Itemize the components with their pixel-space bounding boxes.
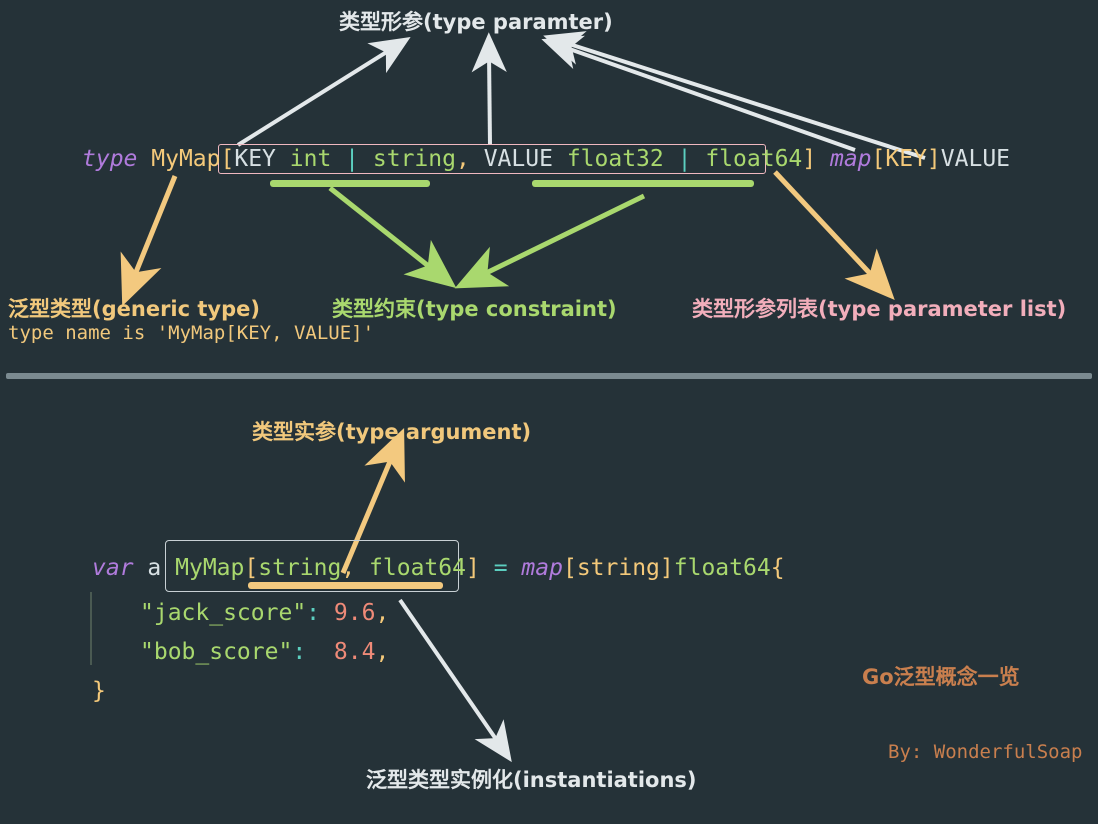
- arrow-mapkey-to-type-parameter: [561, 46, 855, 150]
- variable-name: a: [147, 555, 161, 581]
- map-entry-key-jack: "jack_score": [140, 600, 306, 626]
- label-type-parameter: 类型形参(type paramter): [339, 6, 613, 36]
- colon-1: :: [306, 600, 320, 626]
- signature-author: By: WonderfulSoap: [888, 739, 1082, 767]
- type-arg-float64: float64: [369, 555, 466, 581]
- comma-jack: ,: [375, 600, 389, 626]
- label-type-constraint: 类型约束(type constraint): [332, 293, 617, 323]
- generic-type-name: MyMap: [151, 146, 220, 172]
- diagram-canvas: 类型形参(type paramter) type MyMap[KEY int |…: [0, 0, 1098, 824]
- underline-type-argument: [248, 582, 443, 589]
- arrow-mapvalue-to-type-parameter: [563, 42, 925, 158]
- arg-comma: ,: [341, 555, 355, 581]
- label-generic-type-sub: type name is 'MyMap[KEY, VALUE]': [8, 322, 374, 344]
- arrow-constraint-key: [330, 188, 436, 272]
- label-generic-type: 泛型类型(generic type): [8, 293, 260, 323]
- arrow-type-parameter-list: [775, 172, 877, 281]
- signature-title: Go泛型概念一览: [862, 662, 1082, 692]
- map-key-bracket-2: [string]: [563, 555, 674, 581]
- arg-close-bracket: ]: [466, 555, 480, 581]
- pipe-2: |: [678, 146, 692, 172]
- open-bracket: [: [221, 146, 235, 172]
- arrow-value-to-type-parameter: [489, 53, 490, 145]
- label-instantiations: 泛型类型实例化(instantiations): [366, 764, 697, 794]
- arrow-constraint-value: [478, 196, 644, 277]
- map-value-float64: float64: [674, 555, 771, 581]
- underline-value-constraint: [532, 180, 754, 187]
- map-entry-value-jack: 9.6: [334, 600, 376, 626]
- arrow-generic-type: [132, 176, 175, 282]
- colon-2: :: [292, 639, 306, 665]
- value-constraint-float64: float64: [705, 146, 802, 172]
- map-value-ident: VALUE: [941, 146, 1010, 172]
- arg-open-bracket: [: [244, 555, 258, 581]
- instantiated-type-name: MyMap: [175, 555, 244, 581]
- equals-sign: =: [494, 555, 508, 581]
- bottom-code-line-2: "jack_score": 9.6,: [140, 600, 389, 626]
- key-type-param: KEY: [234, 146, 276, 172]
- label-type-parameter-list: 类型形参列表(type parameter list): [692, 293, 1066, 323]
- bottom-code-line-3: "bob_score": 8.4,: [140, 639, 389, 665]
- keyword-type: type: [82, 146, 137, 172]
- close-bracket: ]: [802, 146, 816, 172]
- label-type-argument: 类型实参(type argument): [252, 416, 531, 446]
- keyword-map-2: map: [521, 555, 563, 581]
- open-brace: {: [771, 555, 785, 581]
- indent-guide: [90, 592, 92, 665]
- value-constraint-float32: float32: [567, 146, 664, 172]
- signature-block: Go泛型概念一览 By: WonderfulSoap: [862, 616, 1082, 813]
- keyword-map: map: [830, 146, 872, 172]
- bottom-code-line-1: var a MyMap[string, float64] = map[strin…: [92, 555, 785, 581]
- map-entry-value-bob: 8.4: [334, 639, 376, 665]
- value-type-param: VALUE: [484, 146, 553, 172]
- type-arg-string: string: [258, 555, 341, 581]
- underline-key-constraint: [270, 180, 430, 187]
- map-entry-key-bob: "bob_score": [140, 639, 292, 665]
- top-code-line: type MyMap[KEY int | string, VALUE float…: [82, 146, 1010, 172]
- pipe-1: |: [345, 146, 359, 172]
- bottom-code-line-4: }: [92, 678, 106, 704]
- comma-1: ,: [456, 146, 470, 172]
- key-constraint-string: string: [373, 146, 456, 172]
- keyword-var: var: [92, 555, 134, 581]
- key-constraint-int: int: [290, 146, 332, 172]
- arrow-key-to-type-parameter: [238, 48, 393, 145]
- section-divider: [6, 373, 1092, 379]
- comma-bob: ,: [375, 639, 389, 665]
- map-key-bracket: [KEY]: [872, 146, 941, 172]
- arrow-instantiations: [400, 600, 500, 745]
